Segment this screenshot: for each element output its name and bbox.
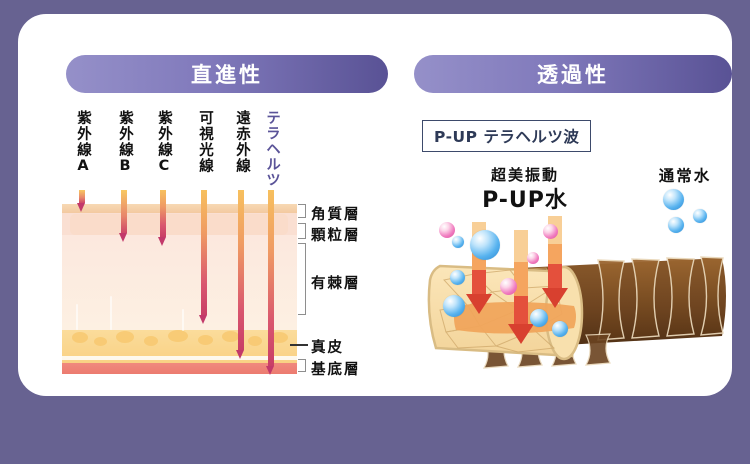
tick-dermis <box>290 344 308 346</box>
skin-layer-basal <box>62 363 297 374</box>
arrow-terahertz <box>266 190 275 375</box>
bracket-cornified <box>298 204 306 218</box>
pup-water-bubble <box>450 270 465 285</box>
collagen-fiber <box>110 296 112 330</box>
pup-ion-bubble <box>543 224 558 239</box>
collagen-fiber <box>76 304 78 330</box>
left-panel-header: 直進性 <box>66 55 388 93</box>
pup-ion-bubble <box>439 222 455 238</box>
pup-water-bubble <box>443 295 465 317</box>
spectrum-label-visible: 可視光線 <box>195 110 212 174</box>
spectrum-label-terahertz: テラヘルツ <box>262 110 279 188</box>
dermis-texture <box>168 330 188 342</box>
dermis-texture <box>144 336 158 346</box>
arrow-uvc <box>158 190 167 246</box>
pup-water-bubble <box>552 321 568 337</box>
granular-band <box>70 214 288 235</box>
arrow-visible <box>199 190 208 324</box>
pup-terahertz-badge: P-UP テラヘルツ波 <box>422 120 591 152</box>
dermis-wave <box>62 356 297 360</box>
pup-water-bubble <box>452 236 464 248</box>
pup-ion-bubble <box>500 278 517 295</box>
layer-label-dermis: 真皮 <box>311 336 344 357</box>
pup-ion-bubble <box>527 252 539 264</box>
hair-cross-section-illustration <box>422 210 732 380</box>
spectrum-label-uvc: 紫外線C <box>154 110 171 176</box>
skin-cross-section <box>62 204 297 374</box>
arrow-uva <box>77 190 86 212</box>
dermis-texture <box>116 331 134 343</box>
layer-label-spinous: 有棘層 <box>311 272 361 293</box>
bracket-granular <box>298 223 306 239</box>
pup-water-bubble <box>470 230 500 260</box>
arrow-far-infrared <box>236 190 245 359</box>
dermis-texture <box>248 336 262 346</box>
skin-layer-spinous <box>62 235 297 330</box>
spectrum-label-uva: 紫外線A <box>73 110 90 176</box>
normal-water-bubble <box>663 189 684 210</box>
bracket-basal <box>298 359 306 372</box>
spectrum-label-far-infrared: 遠赤外線 <box>232 110 249 174</box>
dermis-texture <box>94 337 107 346</box>
collagen-fiber <box>182 309 184 331</box>
dermis-texture <box>72 332 88 343</box>
bracket-spinous <box>298 243 306 315</box>
skin-layer-cornified <box>62 204 297 213</box>
arrow-uvb <box>119 190 128 242</box>
spectrum-label-uvb: 紫外線B <box>115 110 132 176</box>
right-panel-header: 透過性 <box>414 55 732 93</box>
layer-label-granular: 顆粒層 <box>311 224 361 245</box>
normal-water-title: 通常水 <box>635 164 735 186</box>
content-card: 直進性 紫外線A 紫外線B 紫外線C 可視光線 遠赤外線 テラヘルツ <box>18 14 732 396</box>
layer-label-basal: 基底層 <box>311 358 361 379</box>
layer-label-cornified: 角質層 <box>311 203 361 224</box>
pup-water-bubble <box>530 309 548 327</box>
dermis-texture <box>198 335 213 345</box>
